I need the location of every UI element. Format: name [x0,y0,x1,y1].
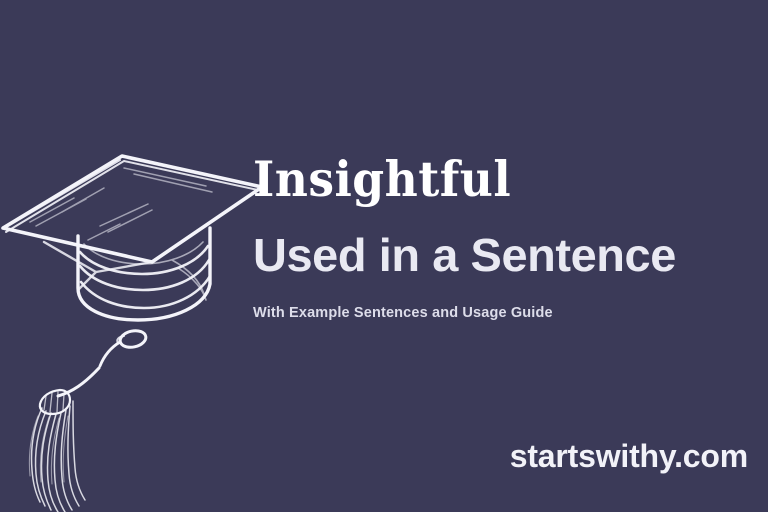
text-block: Insightful Used in a Sentence With Examp… [253,155,758,321]
page-title: Used in a Sentence [253,204,768,278]
word-title: Insightful [253,155,723,204]
page-subtitle: With Example Sentences and Usage Guide [253,278,758,321]
graduation-cap-sketch-icon [0,140,270,370]
social-card-canvas: Insightful Used in a Sentence With Examp… [0,0,768,512]
brand-watermark: startswithy.com [510,440,748,472]
